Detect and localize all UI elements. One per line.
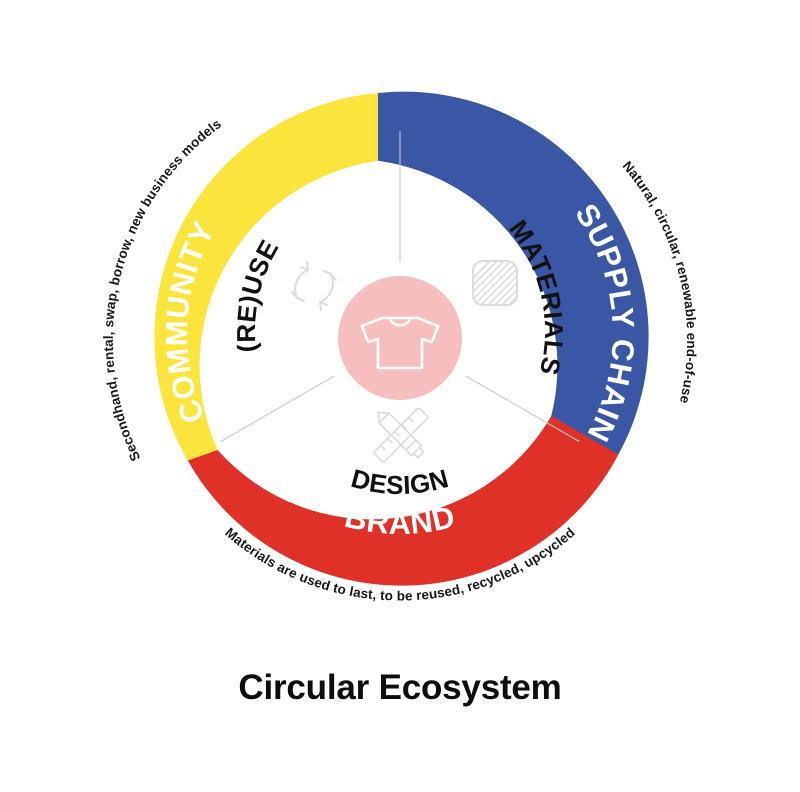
circular-ecosystem-diagram: COMMUNITY SUPPLY CHAIN BRAND (RE)USE MAT…	[0, 0, 800, 792]
inner-label-design: DESIGN	[348, 463, 452, 500]
divider-lower-left	[221, 376, 335, 442]
recycle-arrows-icon	[292, 262, 336, 310]
center-node[interactable]	[338, 276, 462, 400]
band-label-brand: BRAND	[342, 499, 459, 541]
band-label-community: COMMUNITY	[159, 216, 221, 428]
center-circle	[338, 276, 462, 400]
inner-label-reuse: (RE)USE	[231, 235, 285, 354]
fabric-swatch-icon	[468, 261, 522, 308]
page-title: Circular Ecosystem	[0, 668, 800, 708]
segment-brand-band	[188, 416, 619, 586]
segment-brand[interactable]	[188, 416, 619, 586]
pencil-ruler-icon	[373, 407, 428, 462]
